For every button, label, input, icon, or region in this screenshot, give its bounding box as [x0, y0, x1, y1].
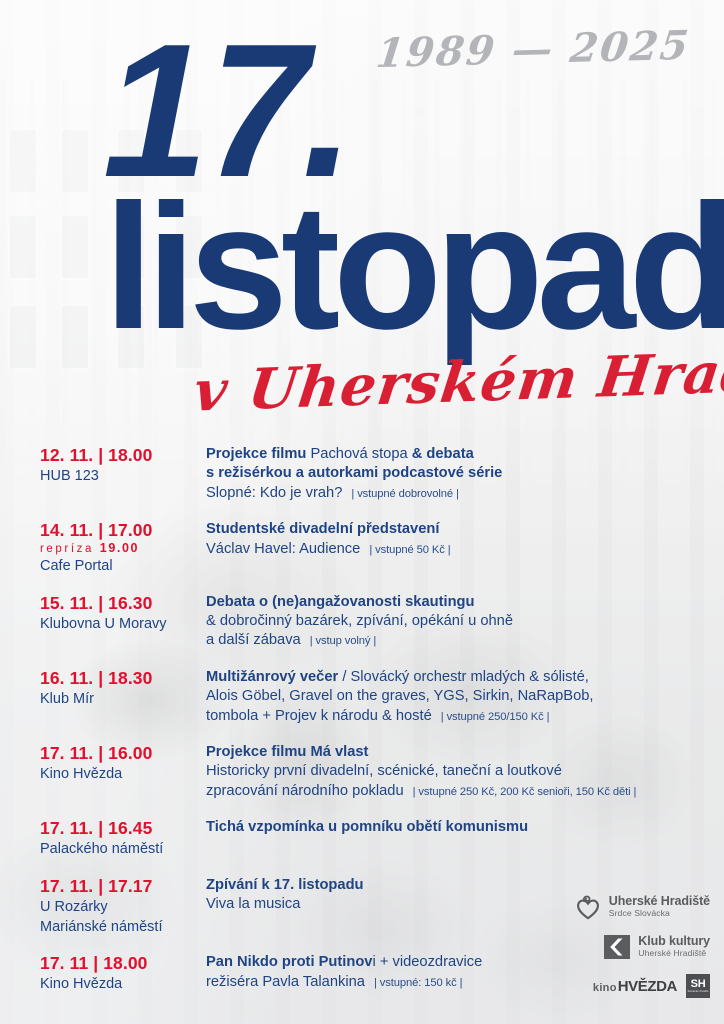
event-place: Cafe Portal — [40, 557, 206, 575]
text-regular: režiséra Pavla Talankina — [206, 974, 365, 990]
event-row: 14. 11. | 17.00repríza 19.00Cafe PortalS… — [0, 519, 724, 575]
event-date: 16. 11. | 18.30 — [40, 668, 206, 688]
event-price: | vstupné 250 Kč, 200 Kč senioři, 150 Kč… — [404, 786, 637, 798]
event-description-line: a další zábava| vstup volný | — [206, 631, 706, 650]
logo-slovacke-divadlo: SH Slovácké divadlo — [686, 974, 710, 998]
text-regular: & dobročinný bazárek, zpívání, opékání u… — [206, 613, 513, 629]
logo-uherske-hradiste-text: Uherské Hradiště Srdce Slovácka — [609, 895, 710, 918]
logo-line-2: Srdce Slovácka — [609, 909, 710, 919]
event-date: 12. 11. | 18.00 — [40, 445, 206, 465]
text-bold: Zpívání k 17. listopadu — [206, 877, 364, 893]
event-description-line: zpracování národního pokladu| vstupné 25… — [206, 782, 706, 801]
repriza-label: repríza — [40, 543, 100, 555]
event-description-line: Slopné: Kdo je vrah?| vstupné dobrovolné… — [206, 484, 706, 503]
text-bold: Pan Nikdo proti Putinov — [206, 954, 372, 970]
event-date: 14. 11. | 17.00 — [40, 520, 206, 540]
event-description-line: & dobročinný bazárek, zpívání, opékání u… — [206, 612, 706, 631]
sh-mark: SH — [691, 979, 706, 990]
text-bold: Tichá vzpomínka u pomníku obětí komunism… — [206, 819, 528, 835]
event-price: | vstup volný | — [301, 635, 377, 647]
event-description-line: Multižánrový večer / Slovácký orchestr m… — [206, 668, 706, 687]
event-when: 12. 11. | 18.00HUB 123 — [40, 444, 206, 485]
text-regular: Viva la musica — [206, 896, 300, 912]
event-description-line: Václav Havel: Audience| vstupné 50 Kč | — [206, 540, 706, 559]
event-description: Debata o (ne)angažovanosti skautingu& do… — [206, 592, 706, 651]
logo-line-1: Uherské Hradiště — [609, 895, 710, 909]
logo-uherske-hradiste: Uherské Hradiště Srdce Slovácka — [575, 894, 710, 920]
event-row: 15. 11. | 16.30Klubovna U MoravyDebata o… — [0, 592, 724, 651]
event-description: Projekce filmu Pachová stopa & debatas r… — [206, 444, 706, 503]
event-place: Kino Hvězda — [40, 975, 206, 993]
event-place: Klub Mír — [40, 690, 206, 708]
event-description-line: Projekce filmu Pachová stopa & debata — [206, 445, 706, 464]
event-description-line: Tichá vzpomínka u pomníku obětí komunism… — [206, 818, 706, 837]
event-date: 17. 11. | 16.45 — [40, 818, 206, 838]
years-range: 1989 — 2025 — [374, 22, 693, 77]
text-bold: Studentské divadelní představení — [206, 521, 439, 537]
text-bold: & debata — [412, 446, 474, 462]
title-listopad: listopad — [104, 178, 724, 356]
event-place: Mariánské náměstí — [40, 918, 206, 936]
text-bold: Projekce filmu Má vlast — [206, 744, 368, 760]
event-when: 17. 11. | 17.17U RozárkyMariánské náměst… — [40, 875, 206, 937]
poster-root: 1989 — 2025 17. listopad v Uherském Hrad… — [0, 0, 724, 1024]
text-bold: Debata o (ne)angažovanosti skautingu — [206, 594, 475, 610]
event-when: 17. 11 | 18.00Kino Hvězda — [40, 952, 206, 993]
heart-swirl-icon — [575, 894, 601, 920]
event-description-line: Studentské divadelní představení — [206, 520, 706, 539]
event-place: HUB 123 — [40, 467, 206, 485]
event-price: | vstupné dobrovolné | — [342, 488, 458, 500]
event-date: 17. 11. | 17.17 — [40, 876, 206, 896]
text-regular: Pachová stopa — [310, 446, 411, 462]
event-place: Klubovna U Moravy — [40, 615, 206, 633]
text-regular: / Slovácký orchestr mladých & sólisté, — [338, 669, 589, 685]
event-date: 17. 11. | 16.00 — [40, 743, 206, 763]
event-description: Projekce filmu Má vlastHistoricky první … — [206, 742, 706, 801]
logo-klub-kultury-text: Klub kultury Uherské Hradiště — [638, 935, 710, 958]
event-description-line: Projekce filmu Má vlast — [206, 743, 706, 762]
event-description-line: Historicky první divadelní, scénické, ta… — [206, 762, 706, 781]
chevron-square-icon — [604, 934, 630, 960]
event-place: Palackého náměstí — [40, 840, 206, 858]
repriza-time: 19.00 — [100, 541, 139, 555]
event-row: 17. 11. | 16.45Palackého náměstíTichá vz… — [0, 817, 724, 858]
logo-line-2: Uherské Hradiště — [638, 949, 710, 959]
text-regular: tombola + Projev k národu & hosté — [206, 708, 432, 724]
event-description: Multižánrový večer / Slovácký orchestr m… — [206, 667, 706, 726]
event-date: 15. 11. | 16.30 — [40, 593, 206, 613]
event-place: U Rozárky — [40, 898, 206, 916]
text-regular: Historicky první divadelní, scénické, ta… — [206, 763, 562, 779]
event-when: 15. 11. | 16.30Klubovna U Moravy — [40, 592, 206, 633]
event-description-line: Zpívání k 17. listopadu — [206, 876, 706, 895]
event-row: 12. 11. | 18.00HUB 123Projekce filmu Pac… — [0, 444, 724, 503]
text-regular: i + videozdravice — [372, 954, 482, 970]
kino-name: HVĚZDA — [618, 978, 677, 995]
kino-prefix: kino — [593, 982, 617, 994]
sh-sub: Slovácké divadlo — [687, 990, 708, 993]
text-regular: a další zábava — [206, 632, 301, 648]
text-bold: Projekce filmu — [206, 446, 310, 462]
text-regular: Alois Göbel, Gravel on the graves, YGS, … — [206, 688, 594, 704]
event-row: 16. 11. | 18.30Klub MírMultižánrový veče… — [0, 667, 724, 726]
text-regular: zpracování národního pokladu — [206, 783, 404, 799]
event-description: Studentské divadelní představeníVáclav H… — [206, 519, 706, 559]
event-row: 17. 11. | 16.00Kino HvězdaProjekce filmu… — [0, 742, 724, 801]
logo-kino-hvezda: kino HVĚZDA — [593, 978, 677, 995]
event-when: 17. 11. | 16.45Palackého náměstí — [40, 817, 206, 858]
event-description-line: Debata o (ne)angažovanosti skautingu — [206, 593, 706, 612]
star-sparkle-icon — [558, 977, 584, 995]
event-price: | vstupné 250/150 Kč | — [432, 711, 550, 723]
logo-klub-kultury: Klub kultury Uherské Hradiště — [604, 934, 710, 960]
event-date: 17. 11 | 18.00 — [40, 953, 206, 973]
event-when: 14. 11. | 17.00repríza 19.00Cafe Portal — [40, 519, 206, 575]
event-repriza: repríza 19.00 — [40, 541, 206, 555]
event-description-line: Alois Göbel, Gravel on the graves, YGS, … — [206, 687, 706, 706]
event-description-line: tombola + Projev k národu & hosté| vstup… — [206, 707, 706, 726]
event-description: Tichá vzpomínka u pomníku obětí komunism… — [206, 817, 706, 837]
text-bold: s režisérkou a autorkami podcastové séri… — [206, 465, 502, 481]
text-bold: Multižánrový večer — [206, 669, 338, 685]
event-when: 16. 11. | 18.30Klub Mír — [40, 667, 206, 708]
logo-strip: Uherské Hradiště Srdce Slovácka Klub kul… — [510, 894, 710, 998]
text-regular: Václav Havel: Audience — [206, 541, 360, 557]
event-when: 17. 11. | 16.00Kino Hvězda — [40, 742, 206, 783]
logo-row-bottom: kino HVĚZDA SH Slovácké divadlo — [558, 974, 710, 998]
event-price: | vstupné: 150 kč | — [365, 977, 463, 989]
logo-line-1: Klub kultury — [638, 935, 710, 949]
event-place: Kino Hvězda — [40, 765, 206, 783]
text-regular: Slopné: Kdo je vrah? — [206, 485, 342, 501]
event-price: | vstupné 50 Kč | — [360, 544, 450, 556]
event-description-line: s režisérkou a autorkami podcastové séri… — [206, 464, 706, 483]
